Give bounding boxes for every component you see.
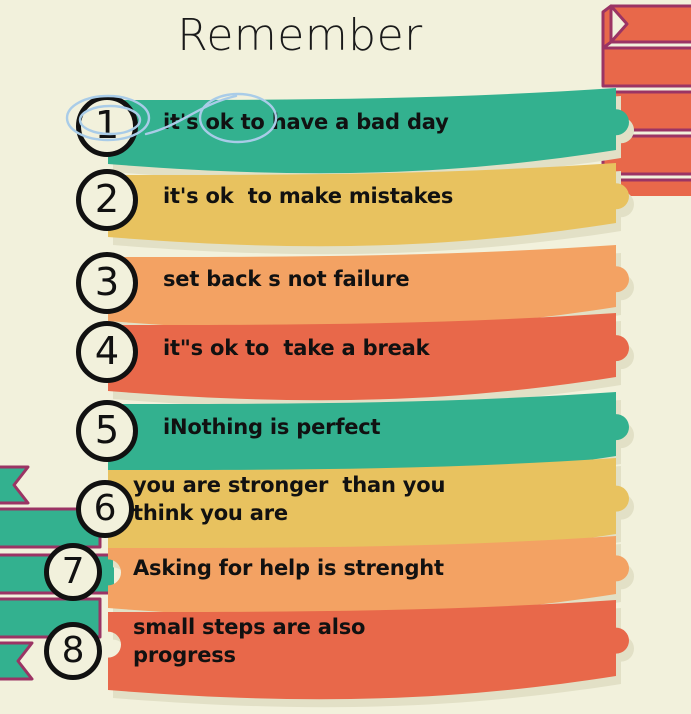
- step-number-label: 1: [95, 107, 119, 145]
- step-number-circle[interactable]: 5: [76, 400, 138, 462]
- banner-label: it's ok to have a bad day: [163, 109, 611, 137]
- step-number-circle[interactable]: 6: [76, 480, 134, 538]
- step-number-circle[interactable]: 8: [44, 622, 102, 680]
- banner-label: Asking for help is strenght: [133, 555, 581, 583]
- banner-label: iNothing is perfect: [163, 414, 611, 442]
- banner-label: it's ok to make mistakes: [163, 183, 611, 211]
- banner-row[interactable]: it's ok to make mistakes2: [0, 163, 691, 255]
- banner-list: it's ok to have a bad day1it's ok to mak…: [0, 0, 691, 691]
- step-number-label: 2: [95, 181, 119, 219]
- step-number-label: 7: [62, 554, 85, 590]
- banner-label: set back s not failure: [163, 266, 611, 294]
- step-number-circle[interactable]: 2: [76, 169, 138, 231]
- step-number-label: 4: [95, 333, 119, 371]
- banner-row[interactable]: small steps are also progress8: [0, 600, 691, 708]
- step-number-label: 5: [95, 412, 119, 450]
- step-number-circle[interactable]: 7: [44, 543, 102, 601]
- step-number-circle[interactable]: 3: [76, 252, 138, 314]
- step-number-circle[interactable]: 1: [76, 95, 138, 157]
- step-number-circle[interactable]: 4: [76, 321, 138, 383]
- banner-label: you are stronger than you think you are: [133, 472, 581, 527]
- step-number-label: 8: [62, 633, 85, 669]
- step-number-label: 3: [95, 264, 119, 302]
- poster-canvas: Remember it's ok to have a bad: [0, 0, 691, 691]
- banner-label: small steps are also progress: [133, 614, 581, 669]
- step-number-label: 6: [94, 491, 117, 527]
- banner-label: it"s ok to take a break: [163, 335, 611, 363]
